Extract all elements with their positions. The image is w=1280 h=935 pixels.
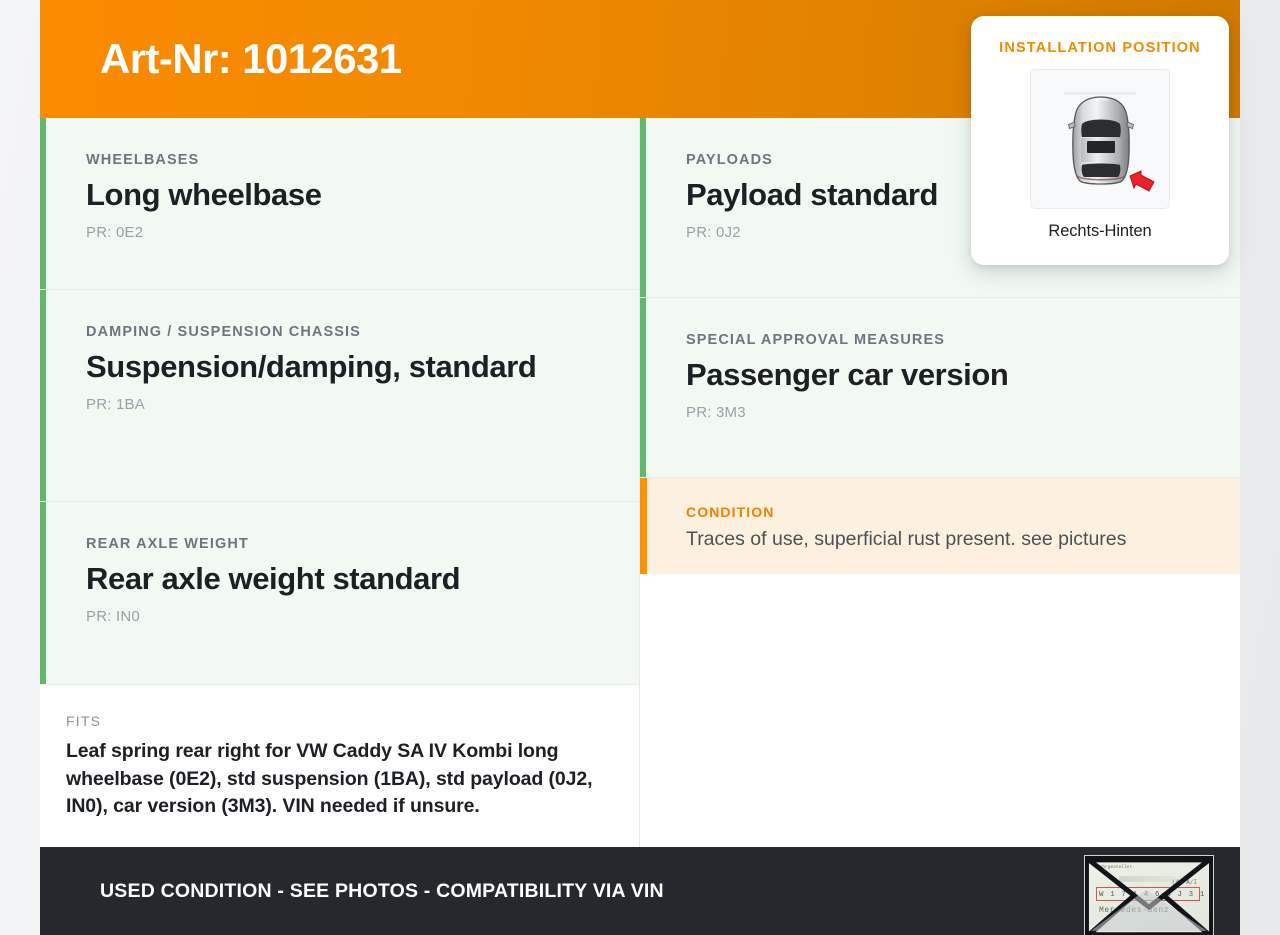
spec-card-rear-axle-weight: Rear Axle Weight Rear axle weight standa… [40, 502, 639, 685]
spec-pr-code: PR: 0E2 [86, 224, 593, 241]
condition-text: Traces of use, superficial rust present.… [686, 527, 1194, 552]
spec-value: Passenger car version [686, 357, 1194, 393]
spec-pr-code: PR: 3M3 [686, 404, 1194, 421]
spec-label: Damping / Suspension chassis [86, 324, 593, 340]
spec-value: Suspension/damping, standard [86, 349, 593, 385]
condition-label: Condition [686, 504, 1194, 520]
fits-label: Fits [66, 713, 593, 729]
spec-card-special-approval: Special Approval Measures Passenger car … [640, 298, 1240, 478]
spec-pr-code: PR: 1BA [86, 396, 593, 413]
spec-card-wheelbases: Wheelbases Long wheelbase PR: 0E2 [40, 118, 639, 290]
footer-text: USED CONDITION - SEE PHOTOS - COMPATIBIL… [100, 880, 664, 903]
spec-label: Rear Axle Weight [86, 536, 593, 552]
right-column-filler [640, 574, 1240, 847]
spec-pr-code: PR: IN0 [86, 608, 593, 625]
page-footer: USED CONDITION - SEE PHOTOS - COMPATIBIL… [40, 847, 1240, 935]
red-arrow-icon [1130, 171, 1154, 191]
installation-position-image [1030, 69, 1170, 209]
installation-position-card[interactable]: Installation Position [971, 16, 1229, 265]
condition-box: Condition Traces of use, superficial rus… [640, 478, 1240, 574]
fits-text: Leaf spring rear right for VW Caddy SA I… [66, 738, 593, 821]
spec-column-left: Wheelbases Long wheelbase PR: 0E2 Dampin… [40, 118, 640, 847]
envelope-icon [1085, 856, 1213, 935]
spec-value: Long wheelbase [86, 177, 593, 213]
spec-label: Special Approval Measures [686, 332, 1194, 348]
car-top-view-icon [1031, 70, 1170, 209]
installation-position-caption: Rechts-Hinten [1048, 222, 1151, 241]
spec-value: Rear axle weight standard [86, 561, 593, 597]
spec-card-damping-suspension: Damping / Suspension chassis Suspension/… [40, 290, 639, 501]
page-title: Art-Nr: 1012631 [100, 38, 402, 80]
spec-label: Wheelbases [86, 152, 593, 168]
installation-position-title: Installation Position [999, 40, 1201, 56]
page-root: Art-Nr: 1012631 Wheelbases Long wheelbas… [0, 0, 1280, 935]
fits-block: Fits Leaf spring rear right for VW Caddy… [40, 685, 639, 847]
vehicle-document-thumbnail[interactable]: Fahrgestellnr. (4) A/I W 1 7 1 4 6 3 J 3… [1084, 855, 1214, 935]
